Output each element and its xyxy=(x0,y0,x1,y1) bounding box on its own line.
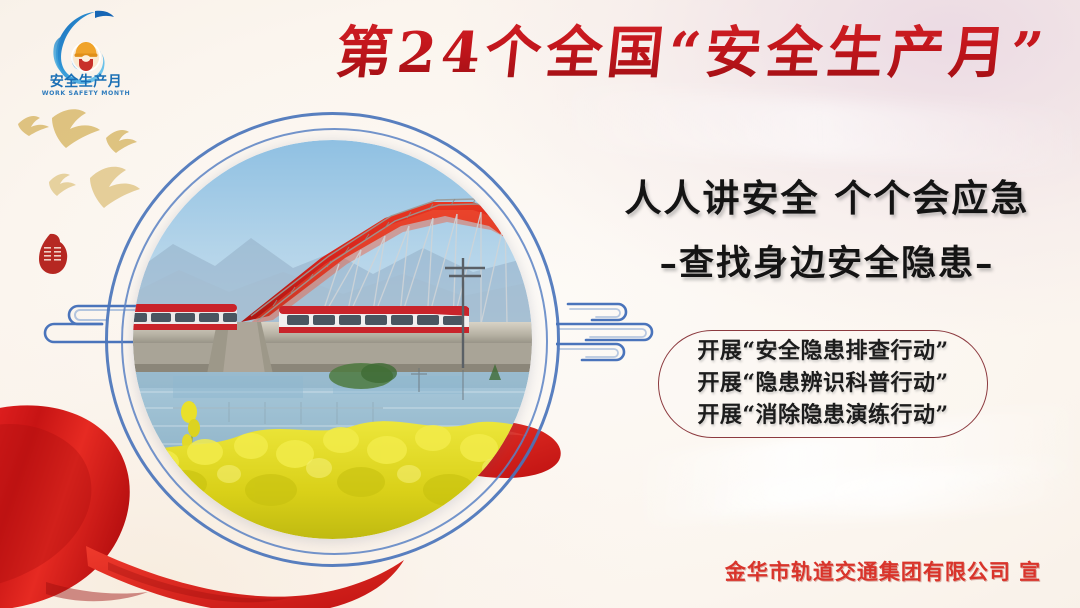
action-item-3: 开展“消除隐患演练行动” xyxy=(697,400,948,432)
publisher-footer: 金华市轨道交通集团有限公司 宣 xyxy=(700,556,1066,586)
main-slogan: 人人讲安全 个个会应急 –查找身边安全隐患– xyxy=(588,168,1066,286)
mist-band-2 xyxy=(699,457,1080,529)
action-list-pill: 开展“安全隐患排查行动” 开展“隐患辨识科普行动” 开展“消除隐患演练行动” xyxy=(658,330,988,438)
slogan-line-1: 人人讲安全 个个会应急 xyxy=(588,168,1066,222)
lightrail-bridge-photo xyxy=(105,112,560,567)
action-item-1: 开展“安全隐患排查行动” xyxy=(697,336,948,368)
work-safety-month-logo: 安全生产月 WORK SAFETY MONTH xyxy=(33,6,139,98)
slogan-line-2: –查找身边安全隐患– xyxy=(588,235,1066,286)
photo-image xyxy=(133,140,532,539)
red-seal-stamp xyxy=(36,232,70,276)
svg-text:安全生产月: 安全生产月 xyxy=(50,73,123,90)
safety-month-poster: 安全生产月 WORK SAFETY MONTH 第24个全国“安全生产月” xyxy=(0,0,1080,608)
poster-title: 第24个全国“安全生产月” xyxy=(316,8,1069,88)
action-item-2: 开展“隐患辨识科普行动” xyxy=(697,368,948,400)
mist-band-3 xyxy=(559,86,1080,173)
